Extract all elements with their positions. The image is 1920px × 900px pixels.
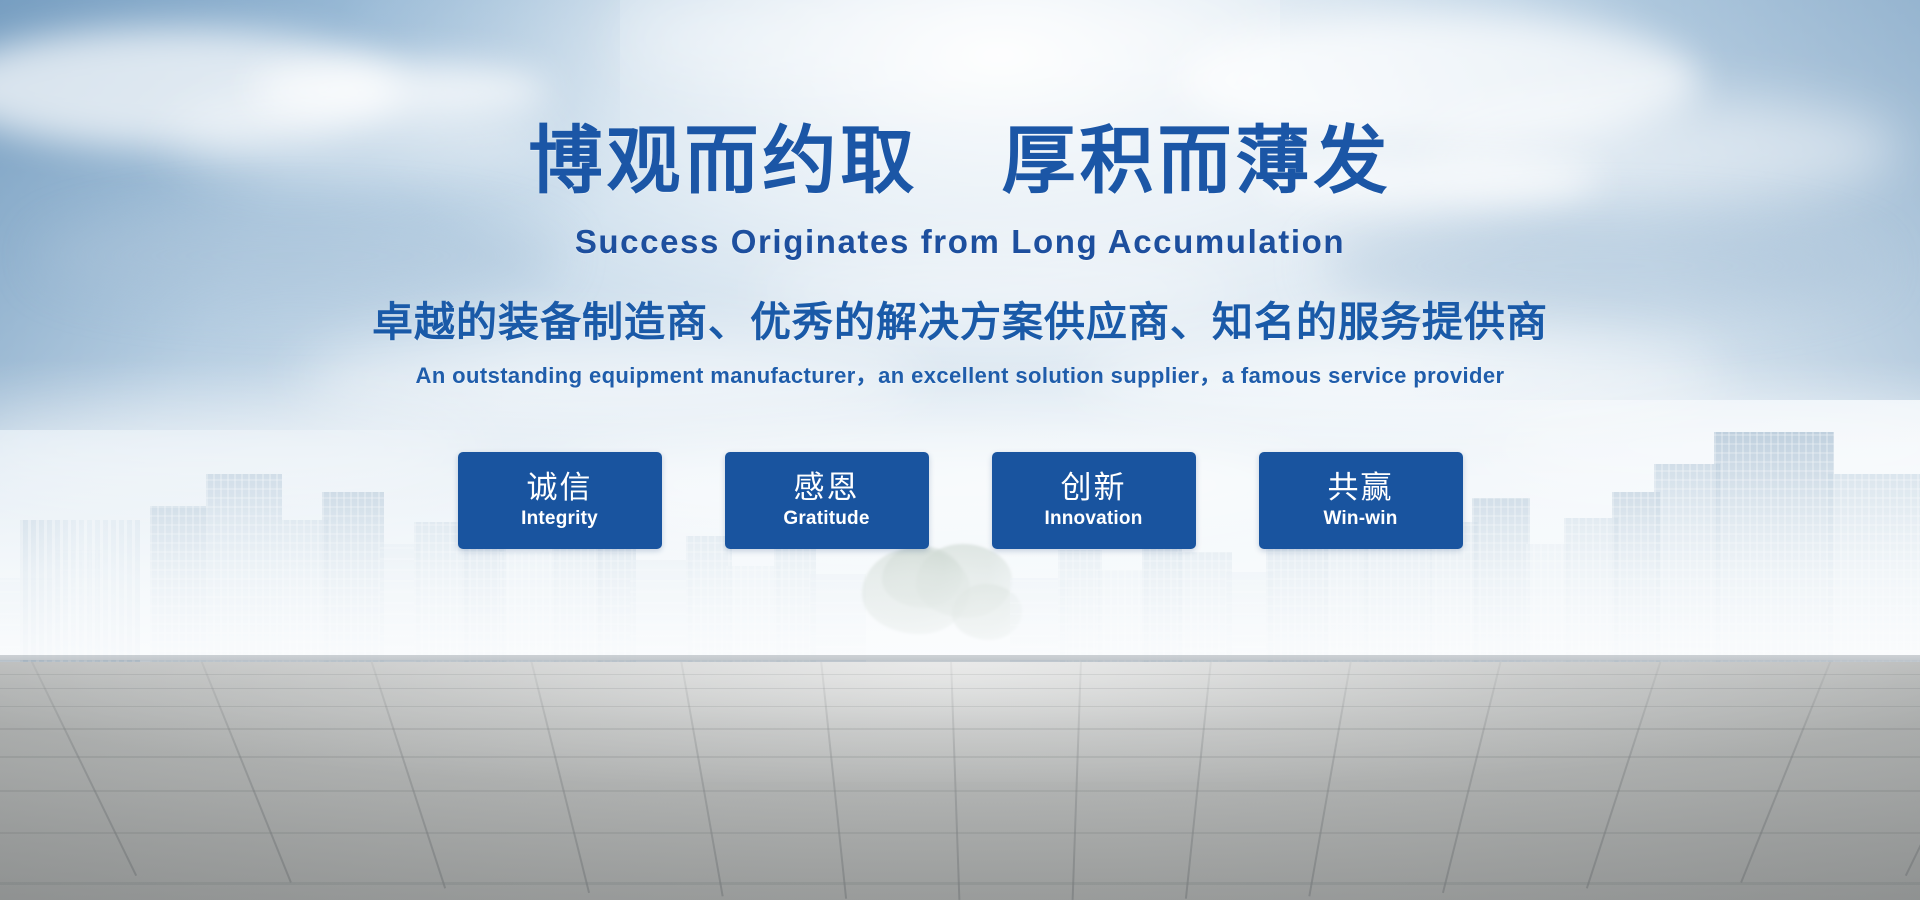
value-card-label-en: Integrity: [521, 507, 598, 531]
headline-chinese-part2: 厚积而薄发: [1002, 119, 1392, 202]
hero-banner: 博观而约取 厚积而薄发 Success Originates from Long…: [0, 0, 1920, 900]
core-values-list: 诚信 Integrity 感恩 Gratitude 创新 Innovation …: [0, 452, 1920, 549]
value-card-gratitude[interactable]: 感恩 Gratitude: [725, 452, 929, 549]
subheadline-chinese: 卓越的装备制造商、优秀的解决方案供应商、知名的服务提供商: [0, 296, 1920, 348]
value-card-label-en: Innovation: [1044, 507, 1142, 531]
value-card-integrity[interactable]: 诚信 Integrity: [458, 452, 662, 549]
value-card-label-cn: 诚信: [527, 470, 593, 506]
value-card-label-cn: 感恩: [794, 470, 860, 506]
value-card-label-en: Win-win: [1323, 507, 1397, 531]
value-card-label-cn: 创新: [1061, 470, 1127, 506]
headline-chinese-part1: 博观而约取: [528, 119, 918, 202]
subheadline-english: An outstanding equipment manufacturer，an…: [0, 362, 1920, 390]
headline-english: Success Originates from Long Accumulatio…: [0, 222, 1920, 262]
value-card-label-cn: 共赢: [1328, 470, 1394, 506]
value-card-winwin[interactable]: 共赢 Win-win: [1259, 452, 1463, 549]
headline-chinese: 博观而约取 厚积而薄发: [0, 118, 1920, 204]
banner-content: 博观而约取 厚积而薄发 Success Originates from Long…: [0, 0, 1920, 900]
value-card-label-en: Gratitude: [783, 507, 869, 531]
value-card-innovation[interactable]: 创新 Innovation: [992, 452, 1196, 549]
